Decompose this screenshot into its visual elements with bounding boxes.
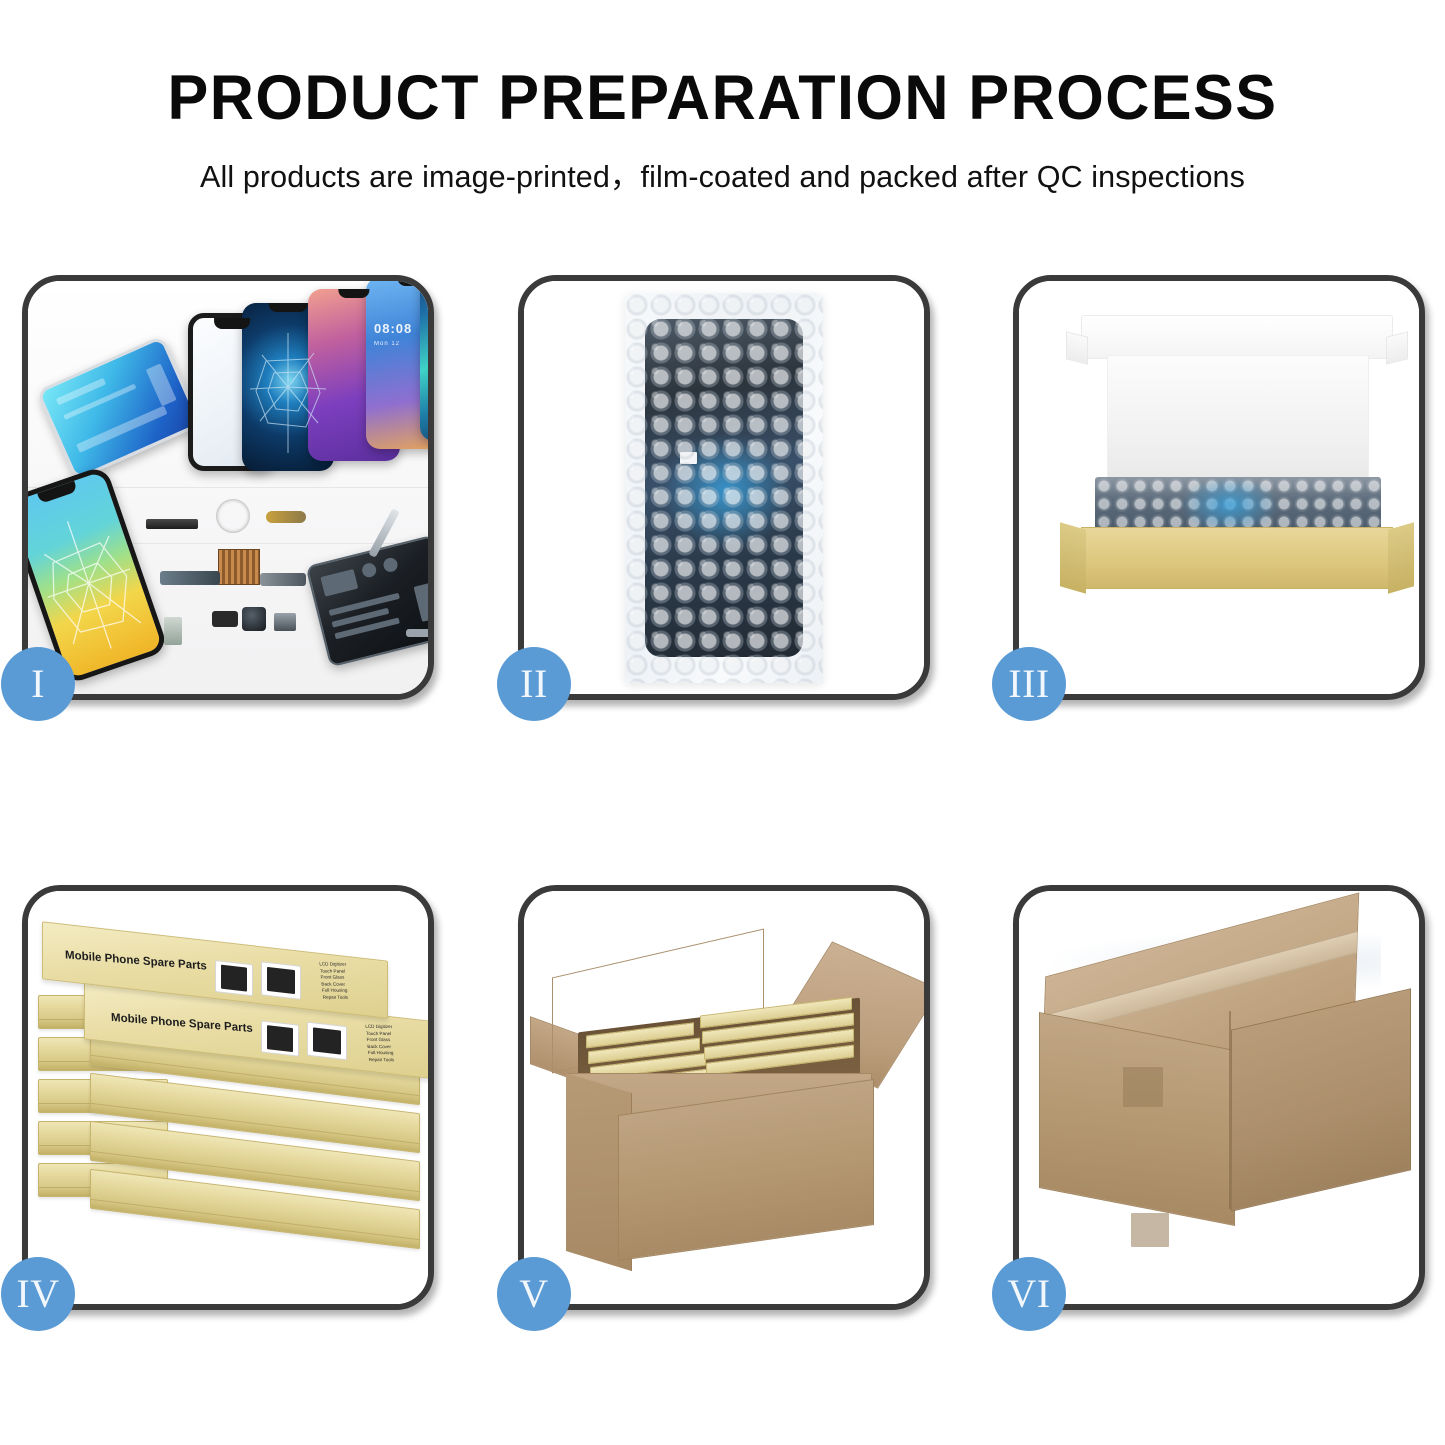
open-shipping-carton (542, 923, 920, 1259)
bubble-wrapped-package (625, 293, 823, 683)
retail-box-brand-line: Mobile Phone Spare Parts (111, 1012, 253, 1035)
panel-6-number-badge: VI (992, 1257, 1066, 1331)
process-panel-3[interactable]: III (1013, 275, 1425, 700)
panel-1-image: 08:08 Mon 12 (28, 281, 428, 694)
component-screw-set (406, 629, 428, 637)
checklist-item: Repair Tools (322, 994, 350, 1001)
phone-display-cracked-blue (242, 303, 334, 471)
checklist-item: Full Housing (368, 1050, 396, 1057)
retail-box-screen-graphic (261, 961, 301, 1000)
retail-box-checklist: LCD Digitizer Touch Panel Front Glass Ba… (319, 961, 350, 1001)
component-flex-cable-3 (260, 573, 306, 586)
process-panel-6[interactable]: VI (1013, 885, 1425, 1310)
phone-clock-meta: Mon 12 (374, 341, 400, 347)
checklist-item: Front Glass (320, 974, 348, 981)
phone-display-teal (420, 281, 428, 441)
tape-tab-lower (1131, 1213, 1169, 1247)
carton-left-face (1039, 1012, 1235, 1226)
component-sim-tray (164, 617, 182, 645)
open-mailer-box (1059, 315, 1413, 617)
bubble-wrap-texture-icon (625, 293, 823, 683)
crack-pattern-icon (242, 303, 334, 471)
checklist-item: Repair Tools (368, 1057, 396, 1064)
carton-corner-seam (1229, 1011, 1231, 1209)
component-flex-cable-1 (266, 511, 306, 523)
panel-4-number-badge: IV (1, 1257, 75, 1331)
checklist-item: LCD Digitizer (319, 961, 347, 968)
checklist-item: LCD Digitizer (365, 1024, 393, 1031)
retail-box-screen-graphic (261, 1020, 299, 1056)
component-connector (274, 613, 296, 631)
mailer-box-front-panel (1081, 527, 1393, 589)
panel-5-number-badge: V (497, 1257, 571, 1331)
mailer-box-contents (1095, 477, 1381, 533)
checklist-item: Full Housing (322, 988, 350, 995)
panel-3-number-badge: III (992, 647, 1066, 721)
component-chip-array (218, 549, 260, 585)
page-subtitle: All products are image-printed，film-coat… (0, 152, 1445, 196)
tape-tab-upper (1123, 1067, 1163, 1107)
sealed-shipping-carton (1033, 921, 1419, 1251)
process-panel-2[interactable]: II (518, 275, 930, 700)
retail-box-screen-graphic (215, 960, 253, 996)
process-panel-grid: 08:08 Mon 12 (0, 0, 1445, 1445)
page-title: PRODUCT PREPARATION PROCESS (22, 66, 1424, 132)
phone-clock-label: 08:08 (374, 321, 412, 336)
component-speaker-coil (216, 499, 250, 533)
process-panel-1[interactable]: 08:08 Mon 12 (22, 275, 434, 700)
process-panel-4[interactable]: Mobile Phone Spare Parts LCD Digitizer T… (22, 885, 434, 1310)
mailer-box-interior (1107, 355, 1369, 481)
component-earpiece-mesh (146, 519, 198, 529)
page-header: PRODUCT PREPARATION PROCESS All products… (0, 0, 1445, 196)
retail-box-brand-line: Mobile Phone Spare Parts (65, 949, 207, 972)
retail-box-screen-graphic (307, 1022, 347, 1061)
retail-box-checklist: LCD Digitizer Touch Panel Front Glass Ba… (365, 1024, 396, 1064)
component-vibrator (212, 611, 238, 627)
component-camera-module (242, 607, 266, 631)
checklist-item: Front Glass (366, 1037, 394, 1044)
panel-6-image (1019, 891, 1419, 1304)
process-panel-5[interactable]: V (518, 885, 930, 1310)
gold-box-stack: Mobile Phone Spare Parts LCD Digitizer T… (38, 917, 428, 1267)
mailer-box-lid (1081, 315, 1393, 359)
panel-5-image (524, 891, 924, 1304)
phone-display-clock: 08:08 Mon 12 (366, 281, 428, 449)
panel-2-image (524, 281, 924, 694)
panel-4-image: Mobile Phone Spare Parts LCD Digitizer T… (28, 891, 428, 1304)
panel-2-number-badge: II (497, 647, 571, 721)
component-flex-cable-2 (160, 571, 220, 585)
panel-1-number-badge: I (1, 647, 75, 721)
panel-3-image (1019, 281, 1419, 694)
